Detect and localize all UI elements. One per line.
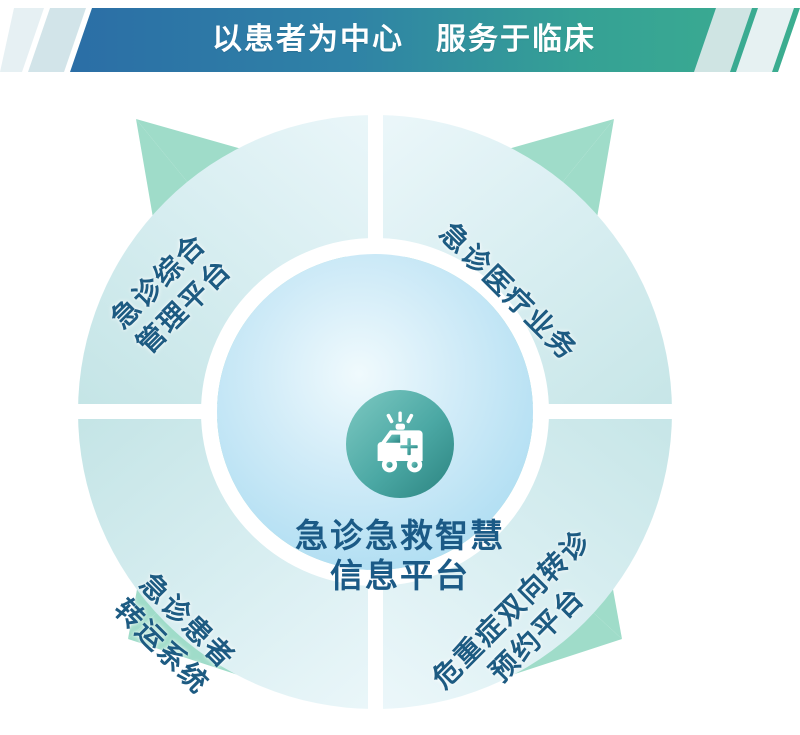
center-content: 急诊急救智慧 信息平台 <box>255 390 545 610</box>
banner-title: 以患者为中心 服务于临床 <box>0 0 800 72</box>
header-banner: 以患者为中心 服务于临床 <box>0 0 800 80</box>
platform-diagram: 急诊综合管理平台 急诊医疗业务 急诊患者转运系统 危重症双向转诊预约平台 <box>0 78 800 735</box>
ambulance-icon <box>346 390 454 498</box>
center-title: 急诊急救智慧 信息平台 <box>295 516 505 597</box>
